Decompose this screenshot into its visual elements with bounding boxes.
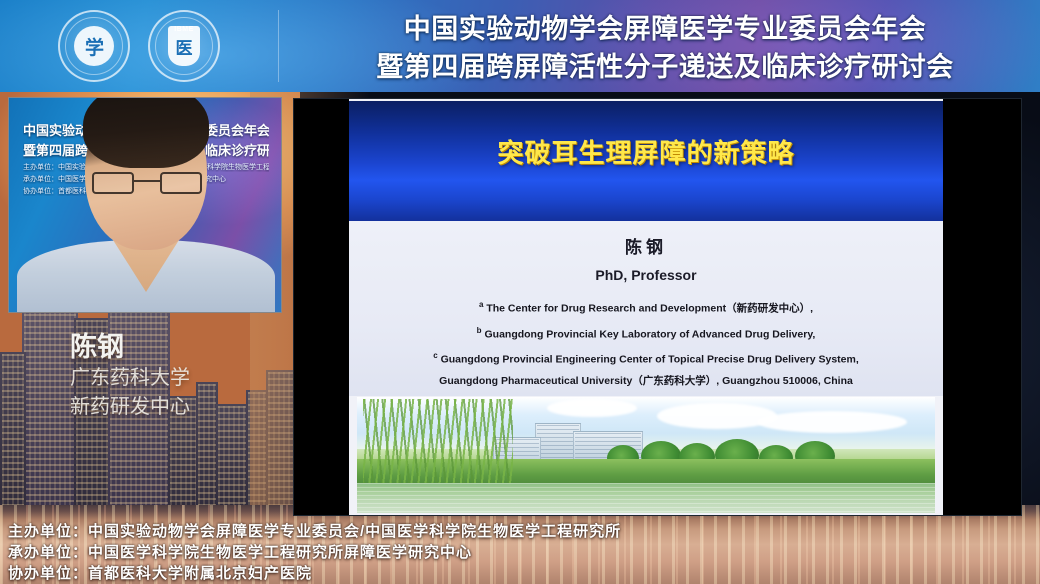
header-title-block: 中国实验动物学会屏障医学专业委员会年会 暨第四届跨屏障活性分子递送及临床诊疗研讨…: [300, 6, 1030, 90]
shared-screen-region[interactable]: 突破耳生理屏障的新策略 陈钢 PhD, Professor a The Cent…: [293, 98, 1022, 516]
affiliation-c-text: Guangdong Provincial Engineering Center …: [441, 354, 859, 366]
letterbox-right: [943, 99, 1022, 515]
organizer-line-coorganizer: 协办单位：首都医科大学附属北京妇产医院: [0, 563, 1040, 584]
speaker-organization-line-2: 新药研发中心: [70, 393, 290, 422]
conference-header-banner: 学 IBME 医 中国实验动物学会屏障医学专业委员会年会 暨第四届跨屏障活性分子…: [0, 0, 1040, 92]
presentation-slide[interactable]: 突破耳生理屏障的新策略 陈钢 PhD, Professor a The Cent…: [349, 99, 943, 515]
affiliation-b-superscript: b: [477, 326, 482, 335]
conference-title-line-1: 中国实验动物学会屏障医学专业委员会年会: [404, 10, 927, 48]
laboratory-animal-society-logo-icon: 学: [58, 10, 130, 82]
organizer-line-host: 主办单位：中国实验动物学会屏障医学专业委员会/中国医学科学院生物医学工程研究所: [0, 521, 1040, 542]
affiliation-d-row: Guangdong Pharmaceutical University（广东药科…: [349, 371, 943, 392]
speaker-glasses-icon: [92, 172, 202, 194]
photo-cloud: [547, 399, 637, 417]
slide-title-bar: 突破耳生理屏障的新策略: [349, 101, 943, 221]
footer-organizer-block: 主办单位：中国实验动物学会屏障医学专业委员会/中国医学科学院生物医学工程研究所 …: [0, 521, 1040, 584]
affiliation-a-row: a The Center for Drug Research and Devel…: [349, 294, 943, 320]
speaker-webcam-panel[interactable]: 中国实验动物学会屏障医学专业委员会年会 暨第四届跨屏障活性分子递送及临床诊疗研讨…: [8, 97, 282, 313]
header-logo-group: 学 IBME 医: [58, 8, 228, 84]
affiliation-a-text: The Center for Drug Research and Develop…: [486, 303, 813, 315]
speaker-name-overlay: 陈钢 广东药科大学 新药研发中心: [70, 330, 290, 422]
glasses-left-lens: [92, 172, 134, 194]
speaker-hair: [83, 97, 209, 168]
affiliation-b-text: Guangdong Provincial Key Laboratory of A…: [484, 328, 815, 340]
affiliation-a-superscript: a: [479, 300, 483, 309]
conference-title-line-2: 暨第四届跨屏障活性分子递送及临床诊疗研讨会: [376, 48, 954, 86]
affiliation-c-row: c Guangdong Provincial Engineering Cente…: [349, 345, 943, 371]
photo-cloud: [657, 403, 777, 429]
affiliation-b-row: b Guangdong Provincial Key Laboratory of…: [349, 320, 943, 346]
photo-lake-water: [357, 483, 935, 513]
logo-left-glyph: 学: [74, 26, 114, 66]
slide-presenter-name: 陈钢: [349, 233, 943, 258]
slide-affiliations: a The Center for Drug Research and Devel…: [349, 294, 943, 392]
slide-title: 突破耳生理屏障的新策略: [349, 133, 943, 170]
header-vertical-divider: [278, 10, 279, 82]
affiliation-c-superscript: c: [433, 351, 437, 360]
slide-presenter-role: PhD, Professor: [349, 267, 943, 283]
ibme-badge-text: IBME: [174, 26, 194, 33]
photo-cloud: [757, 411, 907, 433]
letterbox-left: [294, 99, 349, 515]
conference-stream-stage: 学 IBME 医 中国实验动物学会屏障医学专业委员会年会 暨第四届跨屏障活性分子…: [0, 0, 1040, 584]
speaker-name: 陈钢: [70, 330, 290, 364]
speaker-organization-line-1: 广东药科大学: [70, 364, 290, 393]
slide-body: 陈钢 PhD, Professor a The Center for Drug …: [349, 221, 943, 396]
glasses-bridge: [134, 180, 160, 182]
building: [0, 352, 26, 515]
glasses-right-lens: [160, 172, 202, 194]
organizer-line-undertaker: 承办单位：中国医学科学院生物医学工程研究所屏障医学研究中心: [0, 542, 1040, 563]
ibme-logo-icon: IBME 医: [148, 10, 220, 82]
campus-lake-photo: [357, 397, 935, 513]
photo-willow-tree: [363, 399, 513, 483]
